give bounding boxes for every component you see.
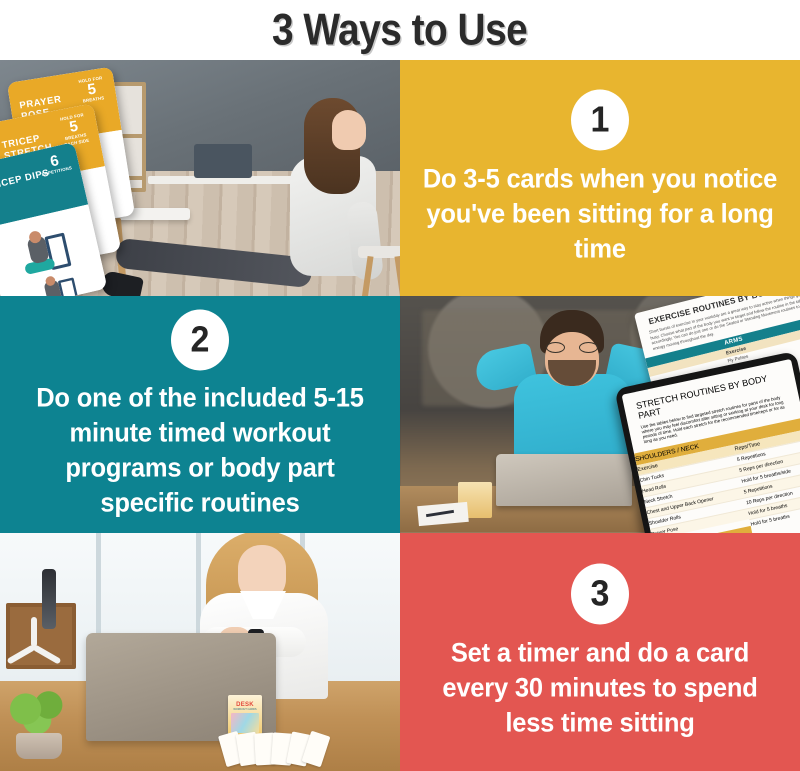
step-text-1: Do 3-5 cards when you notice you've been… — [420, 162, 780, 267]
text-panel-1: 1 Do 3-5 cards when you notice you've be… — [400, 60, 800, 296]
step-text-3: Set a timer and do a card every 30 minut… — [420, 636, 780, 741]
photo3-water-bottle — [42, 569, 56, 629]
page-title: 3 Ways to Use — [272, 8, 527, 53]
photo1-chair — [358, 246, 400, 296]
man-relaxing-photo: EXERCISE ROUTINES BY BODY PART Short bur… — [400, 296, 800, 533]
step-badge-3: 3 — [571, 564, 629, 625]
tablet-screen[interactable]: STRETCH ROUTINES BY BODY PART Use the ta… — [622, 359, 800, 533]
photo-panel-3: DESK WORKOUT CARDS — [0, 533, 400, 771]
eyeglasses-icon — [546, 342, 598, 353]
photo-panel-1: HOLD FOR 5 BREATHS PRAYER POSE — [0, 60, 400, 296]
office-tricep-dip-photo: HOLD FOR 5 BREATHS PRAYER POSE — [0, 60, 400, 296]
photo2-laptop — [496, 454, 632, 506]
panel-grid: HOLD FOR 5 BREATHS PRAYER POSE — [0, 60, 800, 771]
step-badge-2: 2 — [171, 310, 229, 371]
exercise-card-fan: HOLD FOR 5 BREATHS PRAYER POSE — [0, 74, 180, 296]
photo3-spread-cards — [222, 733, 332, 767]
woman-checking-watch-photo: DESK WORKOUT CARDS — [0, 533, 400, 771]
text-panel-2: 2 Do one of the included 5-15 minute tim… — [0, 296, 400, 533]
title-bar: 3 Ways to Use — [0, 0, 800, 60]
step-badge-1: 1 — [571, 90, 629, 151]
infographic-page: 3 Ways to Use — [0, 0, 800, 771]
photo1-person — [228, 98, 398, 296]
step-text-2: Do one of the included 5-15 minute timed… — [20, 381, 380, 522]
text-panel-3: 3 Set a timer and do a card every 30 min… — [400, 533, 800, 771]
photo-panel-2: EXERCISE ROUTINES BY BODY PART Short bur… — [400, 296, 800, 533]
desk-card-deck-box: DESK WORKOUT CARDS — [228, 695, 262, 737]
photo3-plant — [4, 689, 76, 761]
box-subtitle: WORKOUT CARDS — [228, 708, 262, 711]
